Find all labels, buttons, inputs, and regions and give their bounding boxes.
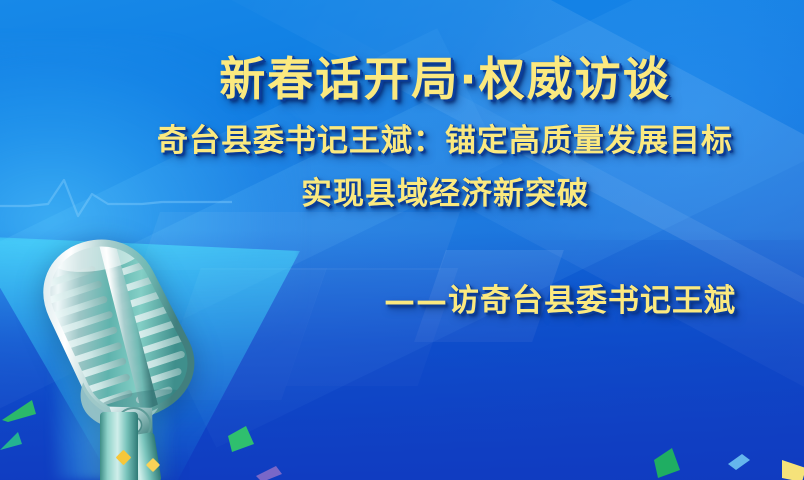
program-title: 新春话开局·权威访谈 bbox=[219, 56, 670, 102]
program-title-row: 新春话开局·权威访谈 bbox=[118, 56, 772, 102]
headline-line2: 实现县域经济新突破 bbox=[301, 179, 589, 210]
headline-line2-row: 实现县域经济新突破 bbox=[118, 179, 772, 210]
confetti-triangle-green-3 bbox=[650, 448, 680, 478]
news-poster: 新春话开局·权威访谈 奇台县委书记王斌：锚定高质量发展目标 实现县域经济新突破 … bbox=[0, 0, 804, 480]
microphone-stand-base bbox=[100, 412, 138, 480]
confetti-quad-purple bbox=[254, 466, 282, 480]
byline: ——访奇台县委书记王斌 bbox=[384, 286, 736, 317]
headline-line1: 奇台县委书记王斌：锚定高质量发展目标 bbox=[157, 126, 733, 157]
confetti-triangle-green-2 bbox=[226, 426, 254, 452]
byline-row: ——访奇台县委书记王斌 bbox=[118, 286, 772, 317]
confetti-quad-skyblue bbox=[726, 454, 750, 470]
confetti-triangle-yellow bbox=[782, 458, 804, 480]
headline-line1-row: 奇台县委书记王斌：锚定高质量发展目标 bbox=[118, 126, 772, 157]
confetti-triangle-green-1 bbox=[2, 398, 36, 422]
poster-text-block: 新春话开局·权威访谈 奇台县委书记王斌：锚定高质量发展目标 实现县域经济新突破 … bbox=[0, 0, 804, 317]
confetti-triangle-teal bbox=[0, 432, 22, 452]
